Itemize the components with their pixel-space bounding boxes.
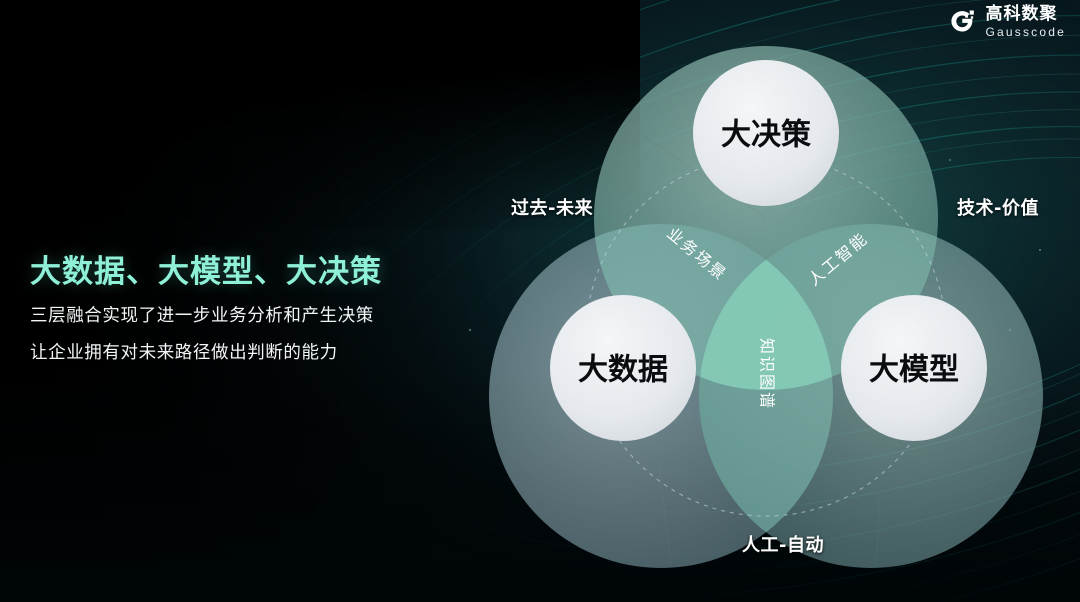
overlap-label-knowledge: 知识图谱: [758, 338, 777, 410]
core-label-bigdata: 大数据: [578, 353, 668, 388]
subtitle-line-2: 让企业拥有对未来路径做出判断的能力: [30, 345, 490, 363]
core-label-decision: 大决策: [721, 118, 811, 153]
slide-canvas: 高科数聚 Gausscode 大数据、大模型、大决策 三层融合实现了进一步业务分…: [0, 0, 1080, 602]
subtitle-line-1: 三层融合实现了进一步业务分析和产生决策: [30, 308, 490, 326]
venn-diagram: 大决策 大数据 大模型 业务场景 人工智能 知识图谱: [466, 6, 1066, 586]
page-title: 大数据、大模型、大决策: [30, 253, 490, 292]
axis-label-past-future: 过去-未来: [511, 194, 593, 220]
axis-label-tech-value: 技术-价值: [957, 194, 1039, 220]
core-label-bigmodel: 大模型: [869, 353, 959, 388]
left-text-block: 大数据、大模型、大决策 三层融合实现了进一步业务分析和产生决策 让企业拥有对未来…: [30, 253, 490, 383]
axis-label-manual-auto: 人工-自动: [742, 531, 824, 557]
